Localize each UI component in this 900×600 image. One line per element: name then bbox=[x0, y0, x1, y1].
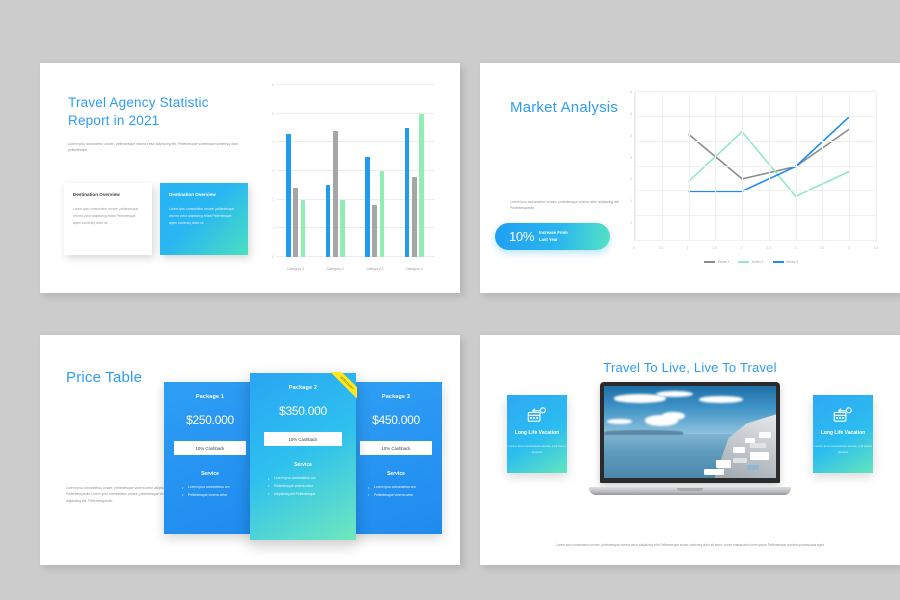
x-tick-label: 0.5 bbox=[659, 246, 663, 250]
building bbox=[733, 447, 745, 453]
x-tick-label: 2.5 bbox=[766, 246, 770, 250]
service-feature: Pellentesque viverra cetur bbox=[183, 492, 247, 500]
cloud bbox=[699, 396, 744, 402]
bar bbox=[333, 131, 338, 257]
package-card-1[interactable]: Package 1 $250.000 10% Cashback Service … bbox=[164, 382, 256, 534]
bar bbox=[340, 200, 345, 257]
package-name: Package 3 bbox=[359, 394, 433, 400]
y-tick-label: 2 bbox=[262, 198, 274, 202]
bar bbox=[365, 157, 370, 257]
ticket-calendar-icon bbox=[833, 407, 853, 422]
y-tick-label: 4 bbox=[620, 134, 632, 138]
service-label: Service bbox=[359, 471, 433, 477]
slide-travel-agency-statistic[interactable]: Travel Agency Statistic Report in 2021 L… bbox=[40, 63, 460, 293]
legend-label: Series 1 bbox=[718, 260, 730, 264]
bar bbox=[380, 171, 385, 257]
promo-heading: Long Life Vacation bbox=[515, 430, 559, 438]
service-feature: Pellentesque viverra cetur bbox=[269, 483, 347, 491]
gridline bbox=[715, 92, 716, 241]
gridline bbox=[662, 92, 663, 241]
y-tick-label: 6 bbox=[620, 90, 632, 94]
slide3-title: Price Table bbox=[66, 367, 176, 388]
y-tick-label: 5 bbox=[620, 112, 632, 116]
service-feature: Pellentesque viverra cetur bbox=[369, 492, 433, 500]
line-chart-plot bbox=[634, 92, 876, 241]
promo-card-left[interactable]: Long Life Vacation Lorem ipsu consectetu… bbox=[507, 395, 567, 473]
slide2-lorem: Lorem ipsu consectetus ornare, pellentes… bbox=[510, 199, 620, 212]
y-tick-label: 2 bbox=[620, 177, 632, 181]
cloud bbox=[607, 419, 631, 424]
legend-label: Series 3 bbox=[786, 260, 798, 264]
service-feature: Lorem ipsu consectetus orn bbox=[183, 484, 247, 492]
card-body: Lorem ipsu consectetur ornare, pellentes… bbox=[73, 206, 144, 227]
bar-group bbox=[355, 85, 395, 257]
line-chart: 0123456 00.511.522.533.544.5 Series 1Ser… bbox=[620, 90, 882, 265]
promo-body: Lorem ipsu consectetus ornare, pell lore… bbox=[507, 443, 567, 455]
gridline bbox=[742, 92, 743, 241]
gridline bbox=[689, 92, 690, 241]
y-tick-label: 1 bbox=[620, 199, 632, 203]
y-tick-label: 1 bbox=[262, 226, 274, 230]
photo-island bbox=[604, 430, 683, 435]
slide4-lorem: Lorem ipsu consectetus ornare, pellentes… bbox=[510, 543, 870, 547]
gridline bbox=[849, 92, 850, 241]
x-tick-label: 3 bbox=[794, 246, 796, 250]
cashback-button[interactable]: 15% Cashback bbox=[264, 432, 342, 446]
laptop-mockup bbox=[589, 382, 791, 495]
y-tick-label: 3 bbox=[620, 156, 632, 160]
bar bbox=[301, 200, 306, 257]
gridline bbox=[635, 190, 876, 191]
package-name: Package 1 bbox=[173, 394, 247, 400]
bar-chart-x-axis: Category 1Category 2Category 3Category 4 bbox=[276, 267, 434, 271]
badge-percent: 10% bbox=[509, 229, 534, 244]
x-tick-label: 2 bbox=[741, 246, 743, 250]
service-feature: Lorem ipsu consectetus orn bbox=[369, 484, 433, 492]
card-heading: Destination Overview bbox=[73, 192, 144, 199]
bar bbox=[293, 188, 298, 257]
y-tick-label: 6 bbox=[262, 83, 274, 87]
building bbox=[704, 469, 725, 475]
increase-badge[interactable]: 10% Increase From Last Year bbox=[495, 223, 610, 250]
x-tick-label: 1.5 bbox=[712, 246, 716, 250]
discount-ribbon: DISCOUNT bbox=[327, 372, 357, 402]
badge-caption: Increase From Last Year bbox=[539, 230, 568, 242]
gridline bbox=[635, 240, 876, 241]
gridline bbox=[822, 92, 823, 241]
cashback-button[interactable]: 10% Cashback bbox=[360, 441, 432, 455]
package-price: $350.000 bbox=[259, 404, 347, 418]
slide-market-analysis[interactable]: Market Analysis Lorem ipsu consectetus o… bbox=[480, 63, 900, 293]
promo-body: Lorem ipsu consectetus ornare, pell lore… bbox=[813, 443, 873, 455]
x-tick-label: 3.5 bbox=[820, 246, 824, 250]
building bbox=[733, 458, 747, 464]
x-tick-label: Category 3 bbox=[355, 267, 395, 271]
gridline bbox=[635, 91, 876, 92]
laptop-notch bbox=[677, 488, 703, 491]
service-feature-list: Lorem ipsu consectetus ornPellentesque v… bbox=[259, 475, 347, 498]
legend-swatch bbox=[738, 261, 749, 263]
slide-deck: Travel Agency Statistic Report in 2021 L… bbox=[0, 0, 900, 600]
bar bbox=[405, 128, 410, 257]
legend-label: Series 2 bbox=[752, 260, 764, 264]
badge-line2: Last Year bbox=[539, 237, 568, 243]
bar bbox=[286, 134, 291, 257]
x-tick-label: Category 4 bbox=[395, 267, 435, 271]
slide2-title: Market Analysis bbox=[510, 98, 630, 119]
gridline bbox=[876, 92, 877, 241]
bar bbox=[419, 114, 424, 257]
line-chart-svg bbox=[635, 92, 876, 241]
promo-heading: Long Life Vacation bbox=[821, 430, 865, 438]
legend-item[interactable]: Series 3 bbox=[773, 260, 798, 264]
bar-chart-bars bbox=[276, 85, 434, 257]
gridline bbox=[635, 141, 876, 142]
building bbox=[750, 443, 765, 448]
laptop-base bbox=[589, 487, 791, 495]
slide-travel-to-live[interactable]: Travel To Live, Live To Travel Long Life… bbox=[480, 335, 900, 565]
bar-chart: 0123456 Category 1Category 2Category 3Ca… bbox=[262, 85, 434, 275]
ribbon-label: DISCOUNT bbox=[328, 372, 357, 402]
service-feature: Adipiscing elit Pellentesque bbox=[269, 491, 347, 499]
package-card-3[interactable]: Package 3 $450.000 10% Cashback Service … bbox=[350, 382, 442, 534]
ticket-calendar-icon bbox=[527, 407, 547, 422]
x-tick-label: 1 bbox=[687, 246, 689, 250]
gridline bbox=[635, 166, 876, 167]
card-body: Lorem ipsu consectetur ornare, pellentes… bbox=[169, 206, 240, 227]
x-tick-label: Category 1 bbox=[276, 267, 316, 271]
x-tick-label: Category 2 bbox=[316, 267, 356, 271]
bar bbox=[412, 177, 417, 257]
y-tick-label: 5 bbox=[262, 112, 274, 116]
legend-swatch bbox=[773, 261, 784, 263]
bar bbox=[326, 185, 331, 257]
gridline bbox=[635, 92, 636, 241]
legend-item[interactable]: Series 1 bbox=[704, 260, 729, 264]
gridline bbox=[796, 92, 797, 241]
service-feature-list: Lorem ipsu consectetus ornPellentesque v… bbox=[173, 484, 247, 500]
bar bbox=[372, 205, 377, 257]
package-price: $250.000 bbox=[173, 413, 247, 427]
destination-overview-card-gradient[interactable]: Destination Overview Lorem ipsu consecte… bbox=[160, 183, 248, 255]
cloud bbox=[662, 412, 684, 420]
slide-price-table[interactable]: Price Table Lorem ipsu consectetus ornar… bbox=[40, 335, 460, 565]
legend-item[interactable]: Series 2 bbox=[738, 260, 763, 264]
y-tick-label: 4 bbox=[262, 140, 274, 144]
building-roof bbox=[747, 465, 759, 470]
gridline bbox=[635, 215, 876, 216]
laptop-lid bbox=[600, 382, 780, 483]
gridline bbox=[635, 116, 876, 117]
bar-group bbox=[316, 85, 356, 257]
line-chart-legend: Series 1Series 2Series 3 bbox=[620, 260, 882, 264]
x-tick-label: 4.5 bbox=[874, 246, 878, 250]
legend-swatch bbox=[704, 261, 715, 263]
x-tick-label: 4 bbox=[848, 246, 850, 250]
slide1-card-row: Destination Overview Lorem ipsu consecte… bbox=[64, 183, 248, 255]
package-price: $450.000 bbox=[359, 413, 433, 427]
promo-card-right[interactable]: Long Life Vacation Lorem ipsu consectetu… bbox=[813, 395, 873, 473]
gridline bbox=[769, 92, 770, 241]
x-tick-label: 0 bbox=[633, 246, 635, 250]
building bbox=[759, 432, 771, 438]
building bbox=[716, 460, 731, 468]
destination-overview-card-white[interactable]: Destination Overview Lorem ipsu consecte… bbox=[64, 183, 152, 255]
slide4-title: Travel To Live, Live To Travel bbox=[480, 360, 900, 375]
y-tick-label: 0 bbox=[262, 255, 274, 259]
package-card-2[interactable]: DISCOUNT Package 2 $350.000 15% Cashback… bbox=[250, 373, 356, 540]
bar-group bbox=[395, 85, 435, 257]
slide1-lorem: Lorem ipsu consectetur ornare, pellentes… bbox=[68, 141, 248, 154]
slide1-title: Travel Agency Statistic Report in 2021 bbox=[68, 94, 253, 130]
service-label: Service bbox=[173, 471, 247, 477]
cloud bbox=[656, 391, 694, 397]
package-row: Package 1 $250.000 10% Cashback Service … bbox=[164, 373, 442, 540]
cashback-button[interactable]: 10% Cashback bbox=[174, 441, 246, 455]
service-feature: Lorem ipsu consectetus orn bbox=[269, 475, 347, 483]
service-label: Service bbox=[259, 462, 347, 468]
building bbox=[750, 452, 769, 459]
laptop-screen bbox=[604, 386, 776, 478]
y-tick-label: 0 bbox=[620, 221, 632, 225]
santorini-photo bbox=[604, 386, 776, 478]
bar-group bbox=[276, 85, 316, 257]
badge-line1: Increase From bbox=[539, 230, 568, 236]
card-heading: Destination Overview bbox=[169, 192, 240, 199]
service-feature-list: Lorem ipsu consectetus ornPellentesque v… bbox=[359, 484, 433, 500]
y-tick-label: 3 bbox=[262, 169, 274, 173]
